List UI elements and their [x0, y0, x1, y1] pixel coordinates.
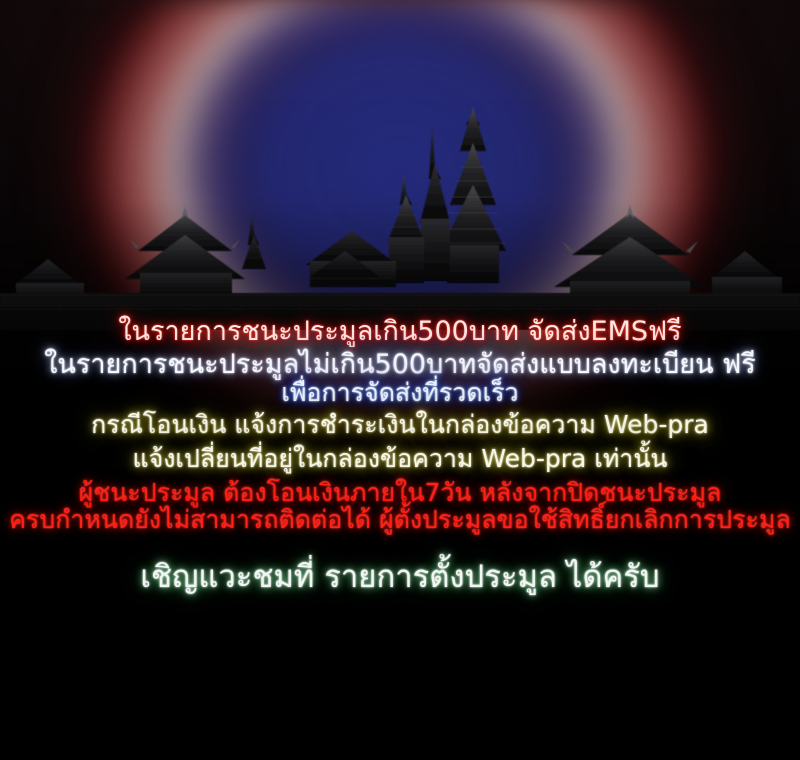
- terms-line-payment-deadline: ผู้ชนะประมูล ต้องโอนเงินภายใน7วัน หลังจา…: [0, 480, 800, 505]
- terms-line-cancel-right: ครบกำหนดยังไม่สามารถติดต่อได้ ผู้ตั้งประ…: [0, 507, 800, 532]
- spacer: [0, 534, 800, 562]
- terms-line-visit-invitation: เชิญแวะชมที่ รายการตั้งประมูล ได้ครับ: [0, 562, 800, 593]
- temple-silhouette-image: [0, 55, 800, 330]
- terms-line-notify-address-change: แจ้งเปลี่ยนที่อยู่ในกล่องข้อความ Web-pra…: [0, 446, 800, 471]
- terms-line-notify-payment: กรณีโอนเงิน แจ้งการชำระเงินในกล่องข้อควา…: [0, 412, 800, 437]
- terms-line-shipping-free-ems: ในรายการชนะประมูลเกิน500บาท จัดส่งEMSฟรี: [0, 318, 800, 345]
- terms-text-block: ในรายการชนะประมูลเกิน500บาท จัดส่งEMSฟรี…: [0, 318, 800, 593]
- terms-line-fast-delivery: เพื่อการจัดส่งที่รวดเร็ว: [0, 380, 800, 405]
- terms-line-shipping-registered: ในรายการชนะประมูลไม่เกิน500บาทจัดส่งแบบล…: [0, 351, 800, 378]
- auction-terms-banner: ในรายการชนะประมูลเกิน500บาท จัดส่งEMSฟรี…: [0, 0, 800, 760]
